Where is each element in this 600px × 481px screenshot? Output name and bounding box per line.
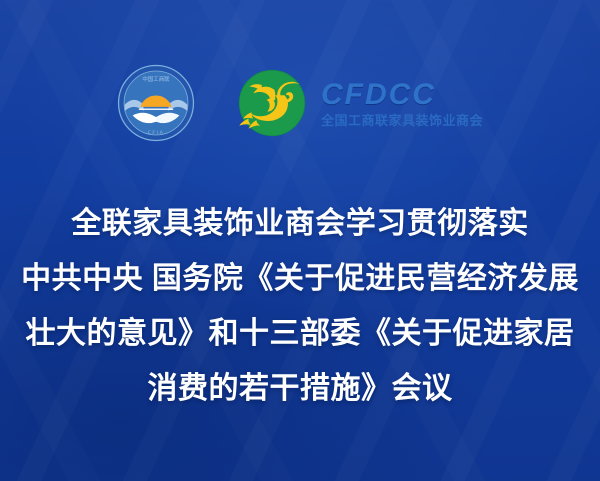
poster-banner: 中国工商联 CFIA CF: [0, 0, 600, 481]
china-federation-emblem-icon: 中国工商联 CFIA: [117, 64, 195, 142]
cfdcc-dragon-emblem-icon: [233, 64, 311, 142]
headline-line-4: 消费的若干措施》会议: [0, 361, 600, 416]
headline-block: 全联家具装饰业商会学习贯彻落实 中共中央 国务院《关于促进民营经济发展 壮大的意…: [0, 196, 600, 416]
headline-line-2: 中共中央 国务院《关于促进民营经济发展: [0, 251, 600, 306]
cfdcc-brand-text: CFDCC 全国工商联家具装饰业商会: [321, 80, 483, 127]
svg-text:CFIA: CFIA: [148, 130, 165, 136]
headline-line-1: 全联家具装饰业商会学习贯彻落实: [0, 196, 600, 251]
cfdcc-brand-group: CFDCC 全国工商联家具装饰业商会: [233, 64, 483, 142]
logo-row: 中国工商联 CFIA CF: [0, 64, 600, 142]
headline-line-3: 壮大的意见》和十三部委《关于促进家居: [0, 306, 600, 361]
cfdcc-acronym: CFDCC: [321, 80, 483, 110]
cfdcc-subtitle: 全国工商联家具装饰业商会: [321, 114, 483, 127]
